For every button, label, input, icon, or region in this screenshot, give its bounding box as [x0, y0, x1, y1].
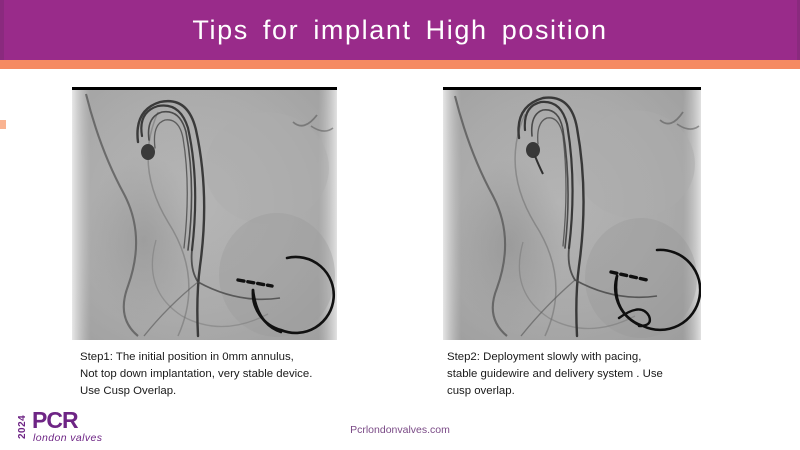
fluoroscopy-frame-step2	[443, 87, 701, 340]
logo-mark-pcr: PCR	[32, 409, 78, 432]
panel-step2	[443, 87, 701, 340]
logo-subtitle: london valves	[33, 432, 102, 444]
fluoroscopy-image-step1	[72, 90, 337, 340]
header-accent-band-tip	[0, 120, 6, 129]
caption-step1: Step1: The initial position in 0mm annul…	[80, 349, 370, 400]
page-title: Tips for implant High position	[0, 0, 800, 60]
logo-year: 2024	[16, 411, 29, 443]
caption-step2: Step2: Deployment slowly with pacing, st…	[447, 349, 737, 400]
fluoroscopy-frame-step1	[72, 87, 337, 340]
panel-step1	[72, 87, 337, 340]
pcr-london-valves-logo: 2024 PCR london valves	[16, 409, 136, 445]
header-accent-band	[0, 60, 800, 69]
fluoroscopy-image-step2	[443, 90, 701, 340]
